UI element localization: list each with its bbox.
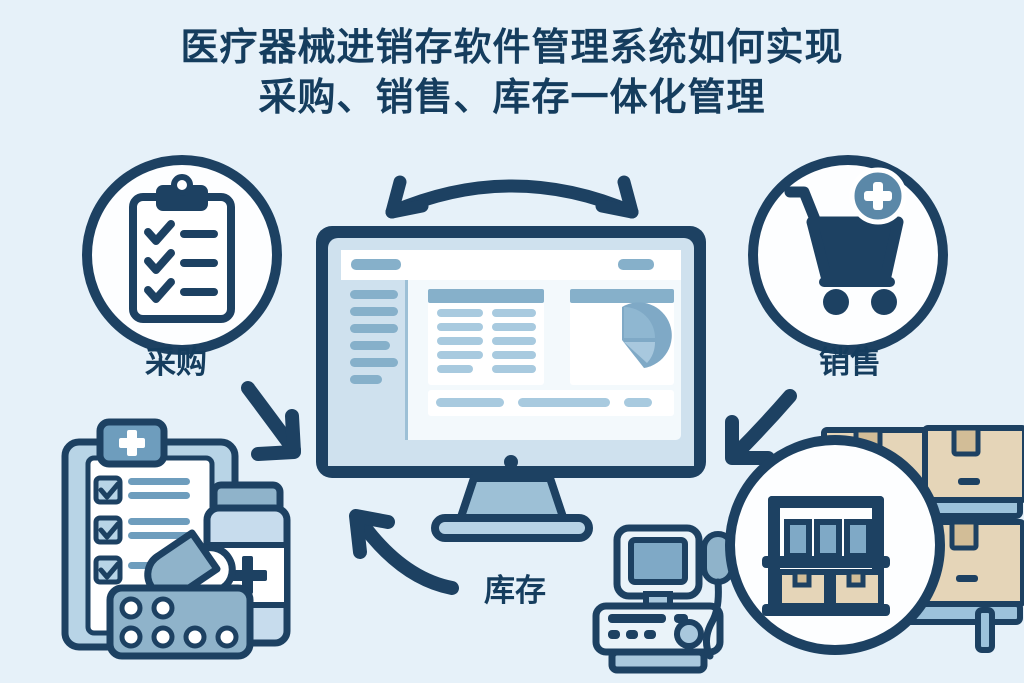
title-line-2: 采购、销售、库存一体化管理 (0, 72, 1024, 122)
page-title: 医疗器械进销存软件管理系统如何实现 采购、销售、库存一体化管理 (0, 22, 1024, 122)
node-label-inventory: 库存 (455, 565, 575, 610)
node-label-sales: 销售 (790, 337, 910, 382)
node-label-procurement: 采购 (116, 337, 236, 382)
cardboard-box (779, 572, 827, 606)
infographic-poster: 医疗器械进销存软件管理系统如何实现 采购、销售、库存一体化管理 (0, 0, 1024, 683)
title-line-1: 医疗器械进销存软件管理系统如何实现 (0, 22, 1024, 72)
cardboard-box (833, 572, 881, 606)
